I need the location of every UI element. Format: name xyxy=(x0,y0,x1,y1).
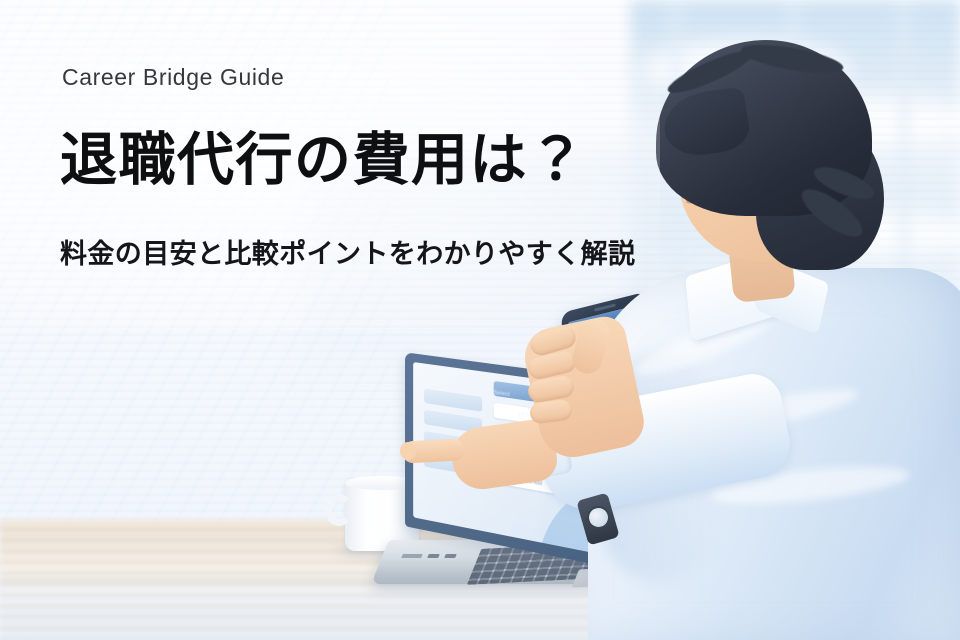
fingertip xyxy=(400,442,416,460)
port xyxy=(401,554,423,558)
laptop-ports xyxy=(401,554,457,558)
text-overlay: Career Bridge Guide 退職代行の費用は？ 料金の目安と比較ポイ… xyxy=(0,0,680,330)
port xyxy=(427,554,440,558)
port xyxy=(444,554,457,558)
hero-banner: Schedule Select 10:35 xyxy=(0,0,960,640)
mug-handle xyxy=(325,494,353,526)
page-subtitle: 料金の目安と比較ポイントをわかりやすく解説 xyxy=(60,238,635,272)
eyebrow-label: Career Bridge Guide xyxy=(62,64,284,91)
page-title: 退職代行の費用は？ xyxy=(60,130,587,192)
